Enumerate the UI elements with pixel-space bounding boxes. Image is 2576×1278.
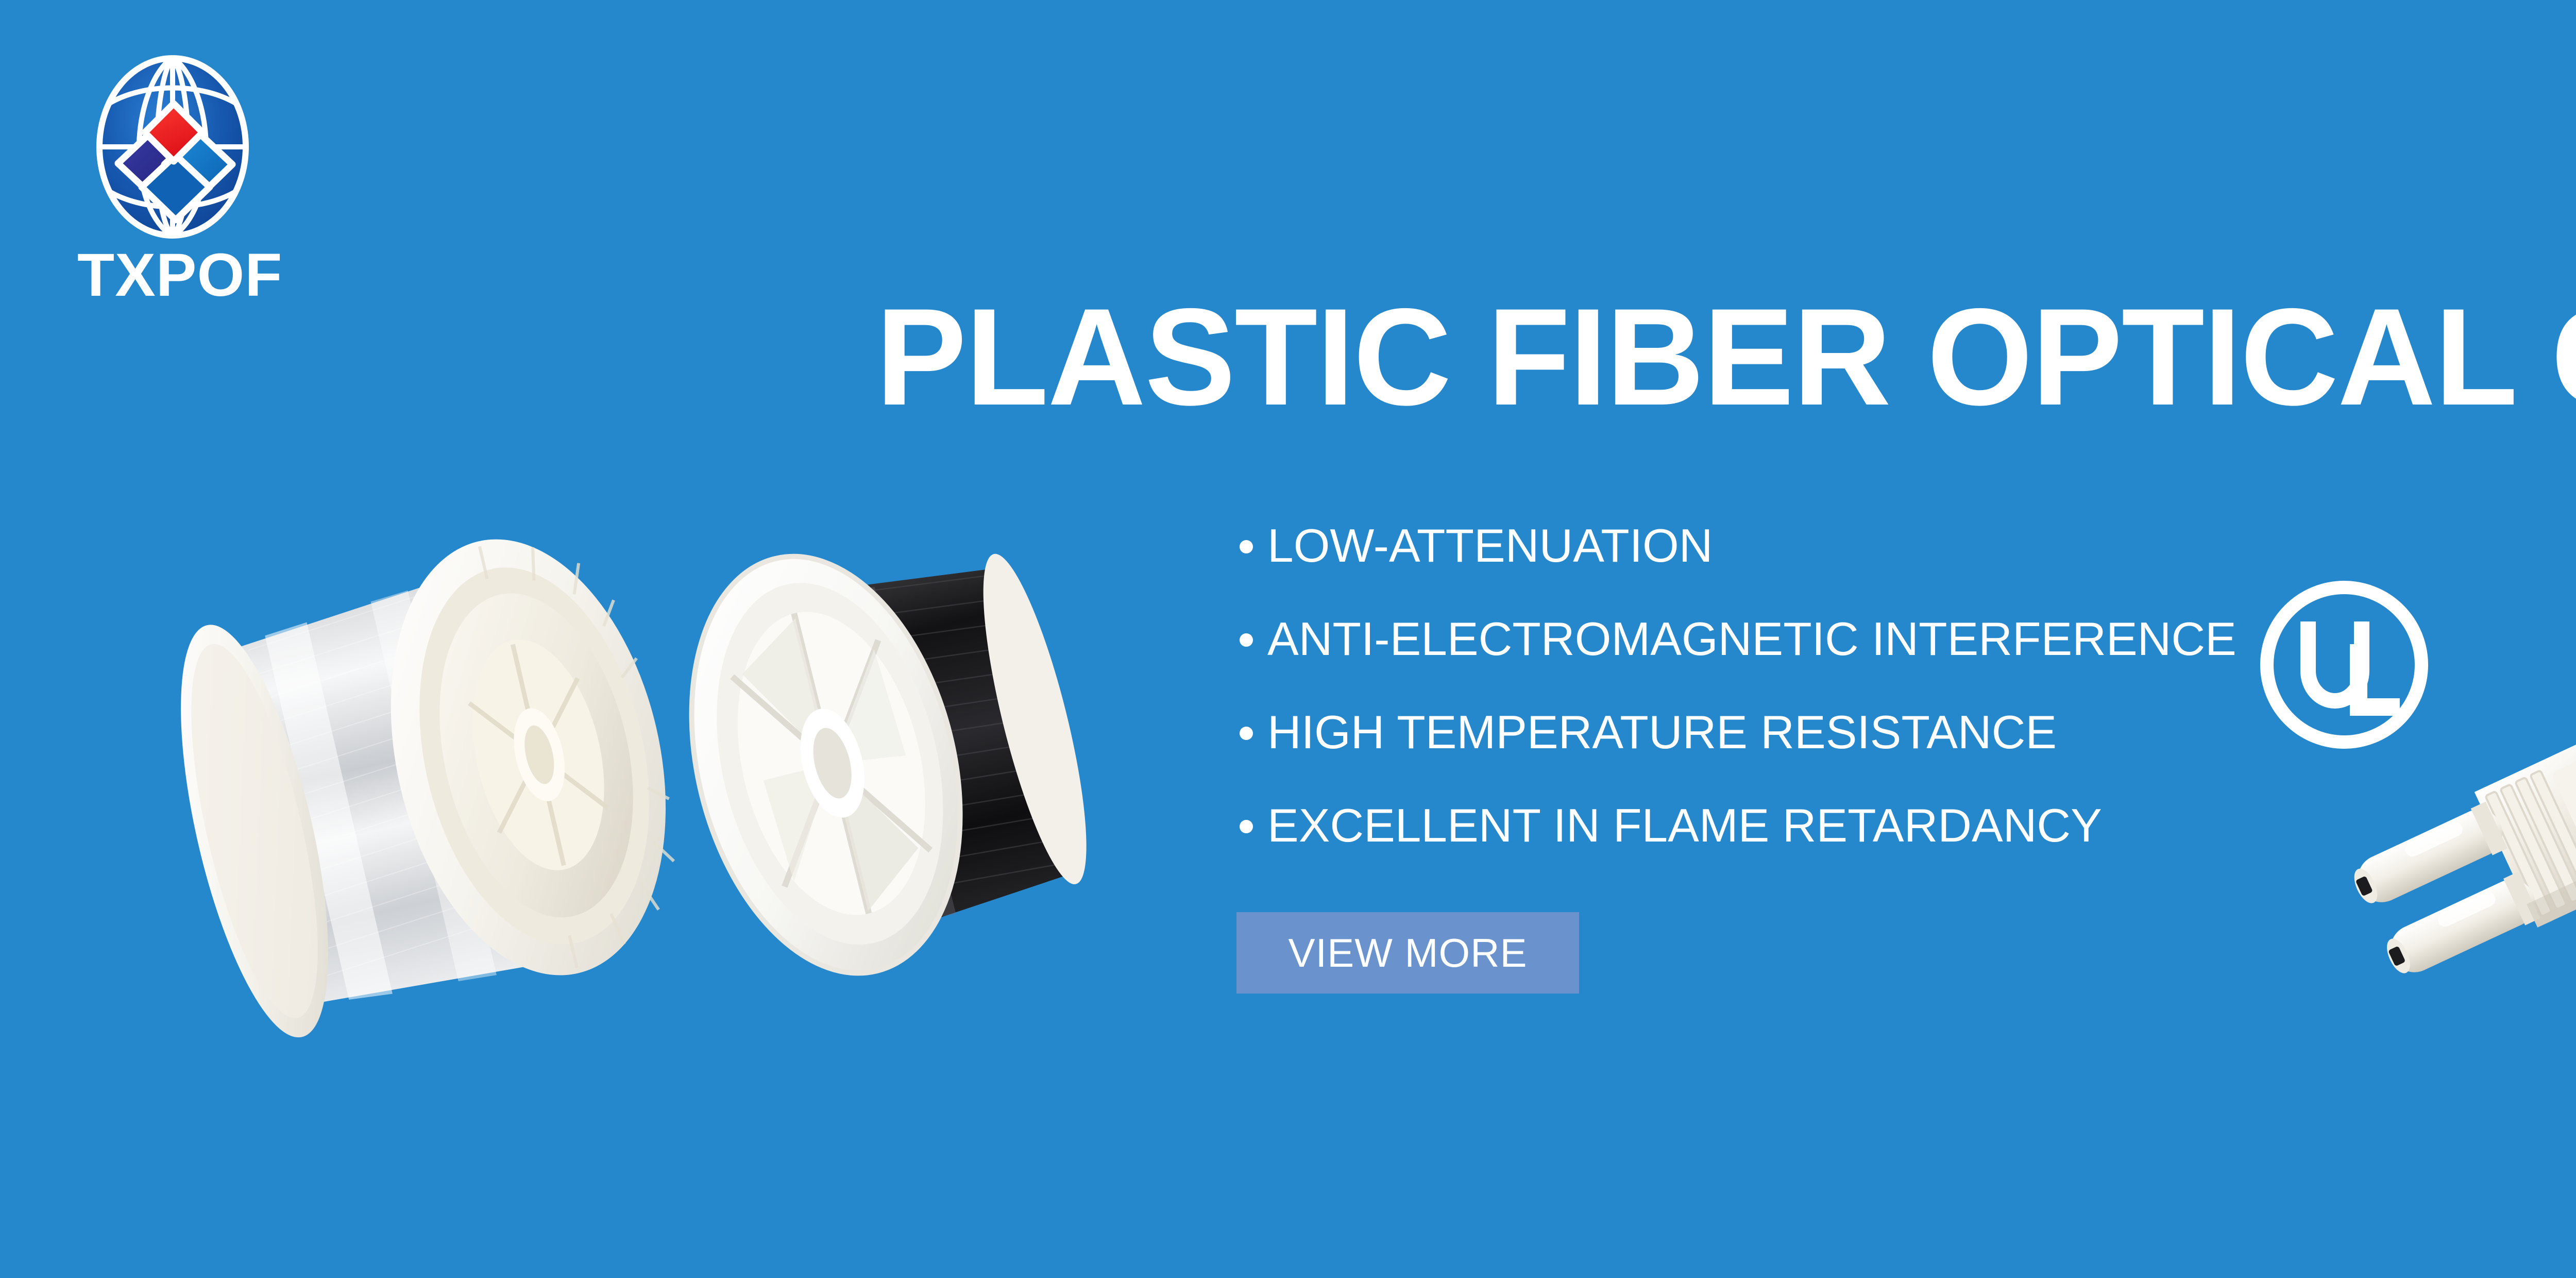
view-more-button[interactable]: VIEW MORE — [1236, 912, 1579, 994]
brand-logo[interactable]: TXPOF — [77, 54, 268, 322]
bullet-dot-icon — [1240, 540, 1253, 553]
pof-connectors-photo — [2334, 361, 2576, 1278]
fiber-spools-photo — [170, 490, 1149, 1098]
bullet-dot-icon — [1240, 820, 1253, 833]
bullet-dot-icon — [1240, 727, 1253, 740]
list-item: HIGH TEMPERATURE RESISTANCE — [1235, 703, 2317, 796]
list-item: EXCELLENT IN FLAME RETARDANCY — [1235, 796, 2317, 889]
feature-label: EXCELLENT IN FLAME RETARDANCY — [1267, 796, 2102, 855]
logo-wordmark: TXPOF — [77, 245, 268, 306]
list-item: ANTI-ELECTROMAGNETIC INTERFERENCE — [1235, 610, 2317, 703]
page-title: PLASTIC FIBER OPTICAL CABLES — [876, 288, 2576, 426]
promo-banner: TXPOF PLASTIC FIBER OPTICAL CABLES LOW-A… — [0, 0, 2576, 1278]
feature-label: HIGH TEMPERATURE RESISTANCE — [1267, 703, 2057, 762]
feature-list: LOW-ATTENUATION ANTI-ELECTROMAGNETIC INT… — [1235, 516, 2317, 889]
list-item: LOW-ATTENUATION — [1235, 516, 2317, 610]
feature-label: LOW-ATTENUATION — [1267, 516, 1713, 576]
feature-label: ANTI-ELECTROMAGNETIC INTERFERENCE — [1267, 610, 2236, 669]
bullet-dot-icon — [1240, 633, 1253, 647]
ul-certification-icon — [2251, 572, 2437, 758]
globe-diamonds-logo-icon — [95, 54, 250, 240]
